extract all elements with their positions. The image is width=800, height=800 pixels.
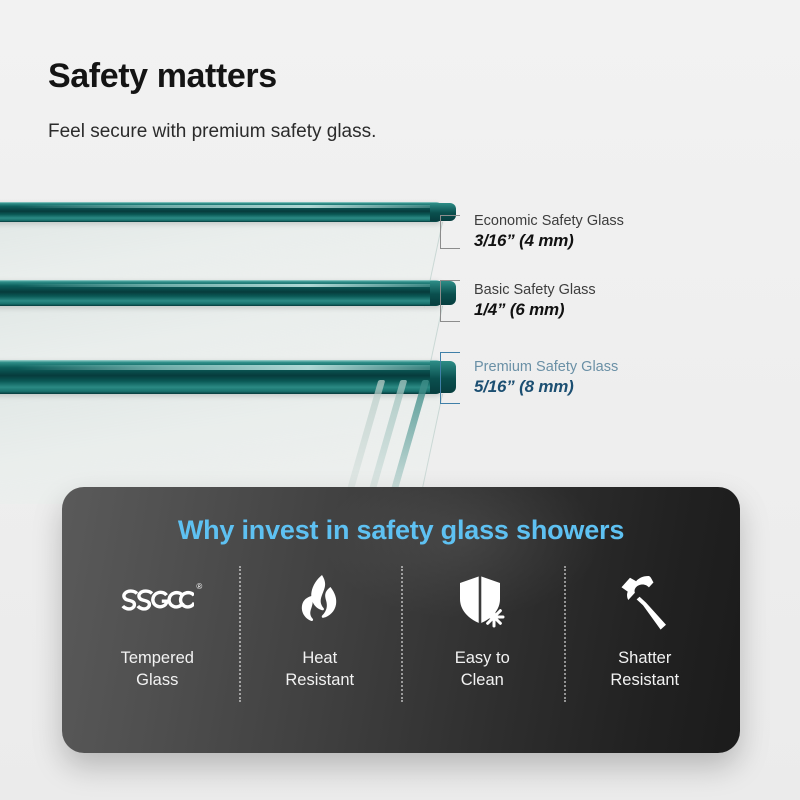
benefits-card: Why invest in safety glass showers	[62, 487, 740, 753]
feature-label: Easy to Clean	[407, 648, 558, 692]
glass-stack-illustration	[0, 180, 800, 510]
measure-bracket-icon	[440, 215, 460, 249]
feature-heat-resistant: Heat Resistant	[239, 572, 402, 692]
glass-callout-economic: Economic Safety Glass 3/16” (4 mm)	[440, 212, 624, 252]
feature-tempered-glass: ® Tempered Glass	[76, 572, 239, 692]
feature-label: Tempered Glass	[82, 648, 233, 692]
glass-callout-premium: Premium Safety Glass 5/16” (8 mm)	[440, 352, 618, 404]
shield-sparkle-icon	[407, 572, 558, 632]
glass-option-name: Economic Safety Glass	[474, 212, 624, 230]
measure-bracket-icon	[440, 280, 460, 322]
feature-shatter-resistant: Shatter Resistant	[564, 572, 727, 692]
glass-sheet-edge	[0, 202, 442, 222]
glass-option-size: 1/4” (6 mm)	[474, 299, 596, 321]
feature-label: Heat Resistant	[245, 648, 396, 692]
registered-trademark-icon: ®	[196, 583, 202, 591]
page-title: Safety matters	[48, 58, 688, 95]
header-block: Safety matters Feel secure with premium …	[48, 58, 688, 144]
benefits-feature-row: ® Tempered Glass Heat Resistant	[62, 572, 740, 692]
feature-easy-to-clean: Easy to Clean	[401, 572, 564, 692]
sgcc-logo-icon: ®	[82, 572, 233, 632]
glass-option-name: Premium Safety Glass	[474, 358, 618, 376]
infographic-canvas: Safety matters Feel secure with premium …	[0, 0, 800, 800]
page-subtitle: Feel secure with premium safety glass.	[48, 121, 688, 144]
glass-callout-basic: Basic Safety Glass 1/4” (6 mm)	[440, 280, 596, 322]
glass-option-size: 5/16” (8 mm)	[474, 376, 618, 398]
flame-icon	[245, 572, 396, 632]
benefits-card-title: Why invest in safety glass showers	[62, 487, 740, 546]
glass-option-name: Basic Safety Glass	[474, 281, 596, 299]
glass-option-size: 3/16” (4 mm)	[474, 230, 624, 252]
feature-label: Shatter Resistant	[570, 648, 721, 692]
hammer-icon	[570, 572, 721, 632]
glass-sheet-edge	[0, 280, 442, 306]
measure-bracket-icon	[440, 352, 460, 404]
